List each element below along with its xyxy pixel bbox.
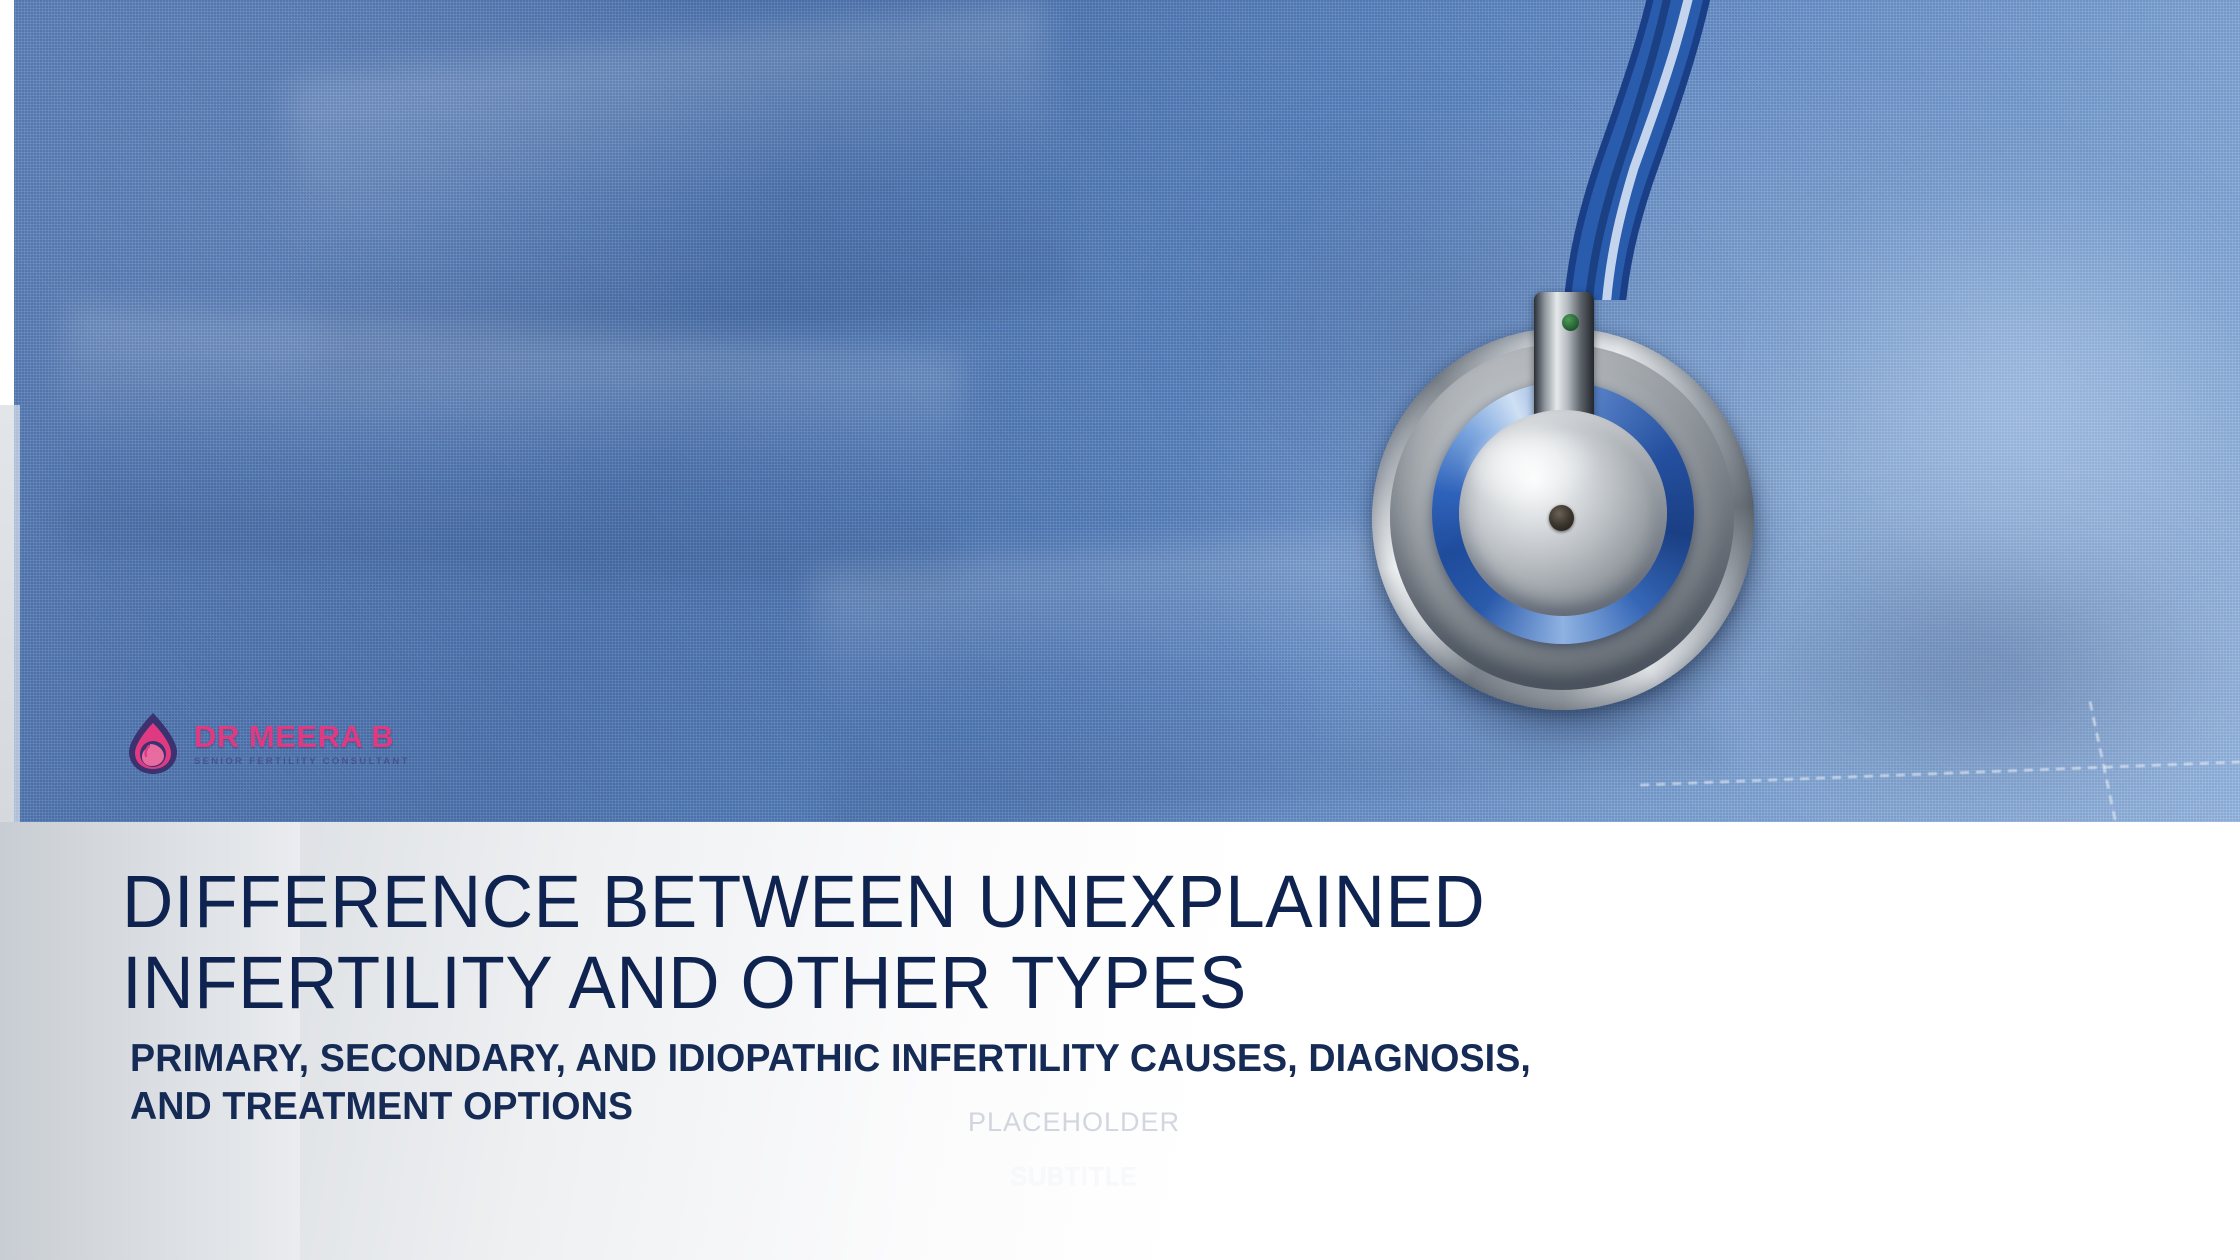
page-subtitle: PRIMARY, SECONDARY, AND IDIOPATHIC INFER… [130, 1035, 2052, 1130]
stethoscope-tube-icon [1480, 0, 1780, 300]
stethoscope-center-screw [1549, 505, 1574, 531]
brand-logo-text: DR MEERA B SENIOR FERTILITY CONSULTANT [194, 721, 410, 767]
page-title: DIFFERENCE BETWEEN UNEXPLAINED INFERTILI… [122, 862, 2042, 1023]
stethoscope-diaphragm-highlight [1470, 430, 1600, 510]
brand-name: DR MEERA B [194, 721, 410, 752]
hero-image: DR MEERA B SENIOR FERTILITY CONSULTANT [0, 0, 2240, 822]
fabric-fold-2 [54, 307, 965, 594]
hero-left-gutter-top [0, 0, 14, 410]
brand-tagline: SENIOR FERTILITY CONSULTANT [194, 757, 410, 767]
stethoscope-stem-indicator [1562, 314, 1579, 331]
slide-canvas: DR MEERA B SENIOR FERTILITY CONSULTANT P… [0, 0, 2240, 1260]
fetus-droplet-icon [122, 711, 184, 777]
brand-logo[interactable]: DR MEERA B SENIOR FERTILITY CONSULTANT [122, 708, 422, 780]
slide-text-block: DIFFERENCE BETWEEN UNEXPLAINED INFERTILI… [122, 862, 2122, 1130]
hero-left-inner-edge [14, 405, 20, 822]
hero-left-gutter-bottom [0, 405, 14, 822]
